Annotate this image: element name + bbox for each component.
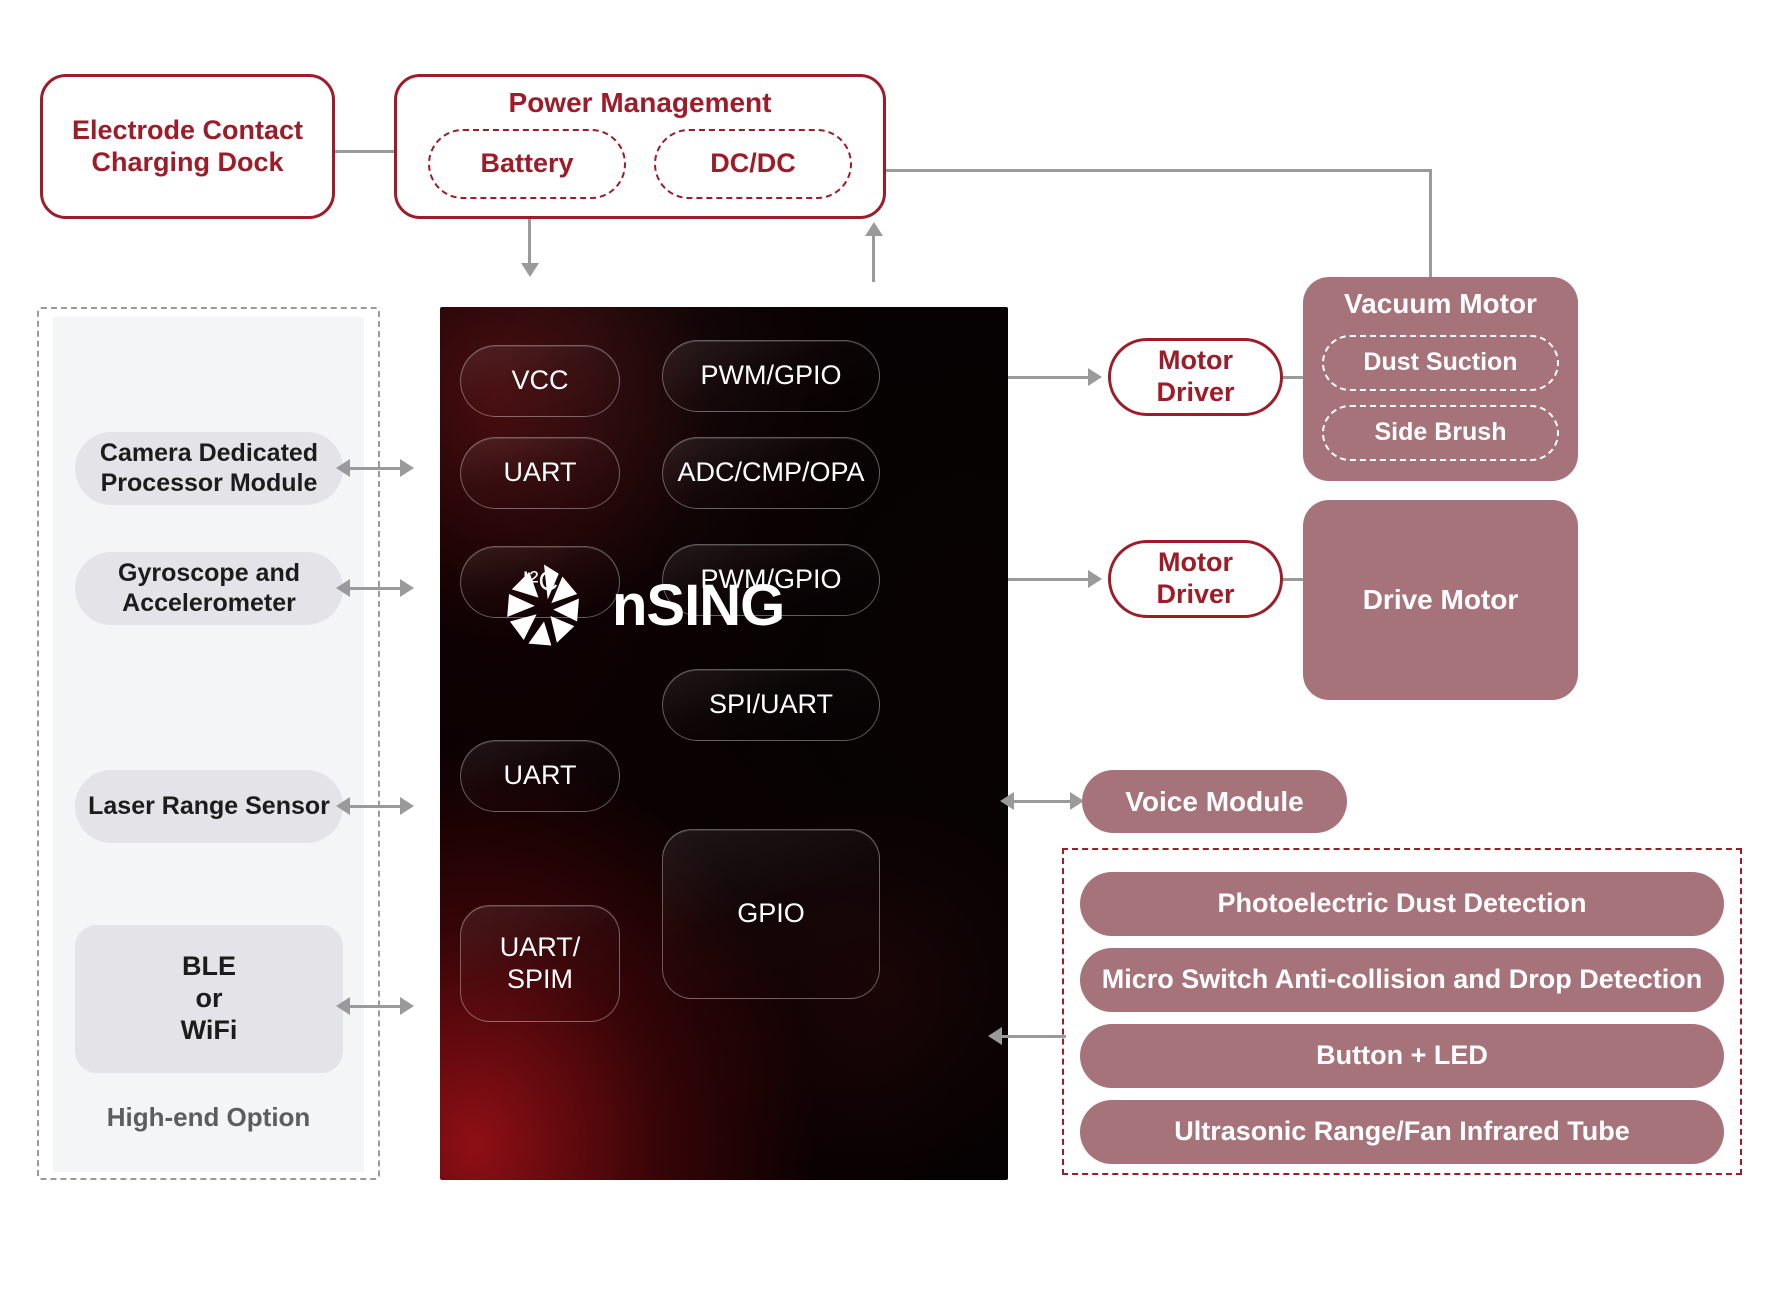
arrow-pwm-to-driver1 xyxy=(1088,368,1102,386)
connector-chip-to-power xyxy=(872,232,875,282)
gyro-line1: Gyroscope and xyxy=(118,559,300,589)
port-uart-laser: UART xyxy=(460,740,620,812)
dock-label-line1: Electrode Contact xyxy=(72,115,303,147)
vacuum-dust-suction: Dust Suction xyxy=(1322,335,1559,391)
arrow-ble-right xyxy=(400,997,414,1015)
gyro-line2: Accelerometer xyxy=(122,589,296,619)
uart-spim-line1: UART/ xyxy=(500,932,581,964)
port-gpio: GPIO xyxy=(662,829,880,999)
arrow-chip-to-power xyxy=(865,222,883,236)
sensor-button-led: Button + LED xyxy=(1080,1024,1724,1088)
arrow-camera-left xyxy=(336,459,350,477)
arrow-gyro-right xyxy=(400,579,414,597)
arrow-power-to-vcc xyxy=(521,263,539,277)
nsing-logo: nSING xyxy=(498,559,784,651)
vacuum-motor-title: Vacuum Motor xyxy=(1303,277,1578,331)
power-management-title: Power Management xyxy=(397,77,883,129)
module-camera-processor: Camera Dedicated Processor Module xyxy=(75,432,343,505)
ble-wifi-line2: or xyxy=(196,983,223,1015)
module-gyro-accelerometer: Gyroscope and Accelerometer xyxy=(75,552,343,625)
arrow-sensors-to-gpio xyxy=(988,1027,1002,1045)
ble-wifi-line1: BLE xyxy=(182,951,236,983)
motor-driver-2: Motor Driver xyxy=(1108,540,1283,618)
arrow-gyro-left xyxy=(336,579,350,597)
power-management-box: Power Management Battery DC/DC xyxy=(394,74,886,219)
vacuum-side-brush: Side Brush xyxy=(1322,405,1559,461)
motor-driver-2-line2: Driver xyxy=(1156,579,1234,611)
arrow-ble-left xyxy=(336,997,350,1015)
connector-power-to-vacuum-h xyxy=(886,169,1432,172)
voice-module: Voice Module xyxy=(1082,770,1347,833)
port-uart-spim: UART/ SPIM xyxy=(460,905,620,1022)
module-ble-wifi: BLE or WiFi xyxy=(75,925,343,1073)
camera-processor-line2: Processor Module xyxy=(101,469,318,499)
arrow-camera-right xyxy=(400,459,414,477)
uart-spim-line2: SPIM xyxy=(507,964,573,996)
motor-driver-1-line2: Driver xyxy=(1156,377,1234,409)
electrode-charging-dock-box: Electrode Contact Charging Dock xyxy=(40,74,335,219)
module-laser-range-sensor: Laser Range Sensor xyxy=(75,770,343,843)
mcu-chip: VCC UART I²C UART UART/ SPIM PWM/GPIO AD… xyxy=(440,307,1008,1180)
connector-pwm-to-driver1 xyxy=(1008,376,1090,379)
arrow-pwm-to-driver2 xyxy=(1088,570,1102,588)
battery-block: Battery xyxy=(428,129,626,199)
dock-label-line2: Charging Dock xyxy=(91,147,283,179)
connector-pwm-to-driver2 xyxy=(1008,578,1090,581)
connector-power-to-vacuum-v xyxy=(1429,169,1432,277)
motor-driver-2-line1: Motor xyxy=(1158,547,1233,579)
connector-sensors-to-gpio xyxy=(1000,1035,1066,1038)
port-pwm-gpio-vacuum: PWM/GPIO xyxy=(662,340,880,412)
vacuum-motor-box: Vacuum Motor Dust Suction Side Brush xyxy=(1303,277,1578,481)
dcdc-block: DC/DC xyxy=(654,129,852,199)
connector-dock-to-power xyxy=(335,150,397,153)
nsing-mark-icon xyxy=(498,559,590,651)
arrow-laser-right xyxy=(400,797,414,815)
port-uart-camera: UART xyxy=(460,437,620,509)
motor-driver-1-line1: Motor xyxy=(1158,345,1233,377)
arrow-voice-left xyxy=(1000,792,1014,810)
nsing-wordmark: nSING xyxy=(612,572,784,639)
ble-wifi-line3: WiFi xyxy=(181,1015,238,1047)
high-end-option-caption: High-end Option xyxy=(53,1095,364,1139)
port-vcc: VCC xyxy=(460,345,620,417)
sensor-micro-switch-anticollision: Micro Switch Anti-collision and Drop Det… xyxy=(1080,948,1724,1012)
port-spi-uart: SPI/UART xyxy=(662,669,880,741)
port-adc-cmp-opa: ADC/CMP/OPA xyxy=(662,437,880,509)
sensor-photoelectric-dust-detection: Photoelectric Dust Detection xyxy=(1080,872,1724,936)
sensor-ultrasonic-infrared: Ultrasonic Range/Fan Infrared Tube xyxy=(1080,1100,1724,1164)
camera-processor-line1: Camera Dedicated xyxy=(100,439,318,469)
drive-motor-box: Drive Motor xyxy=(1303,500,1578,700)
connector-power-to-vcc xyxy=(528,219,531,267)
motor-driver-1: Motor Driver xyxy=(1108,338,1283,416)
arrow-laser-left xyxy=(336,797,350,815)
